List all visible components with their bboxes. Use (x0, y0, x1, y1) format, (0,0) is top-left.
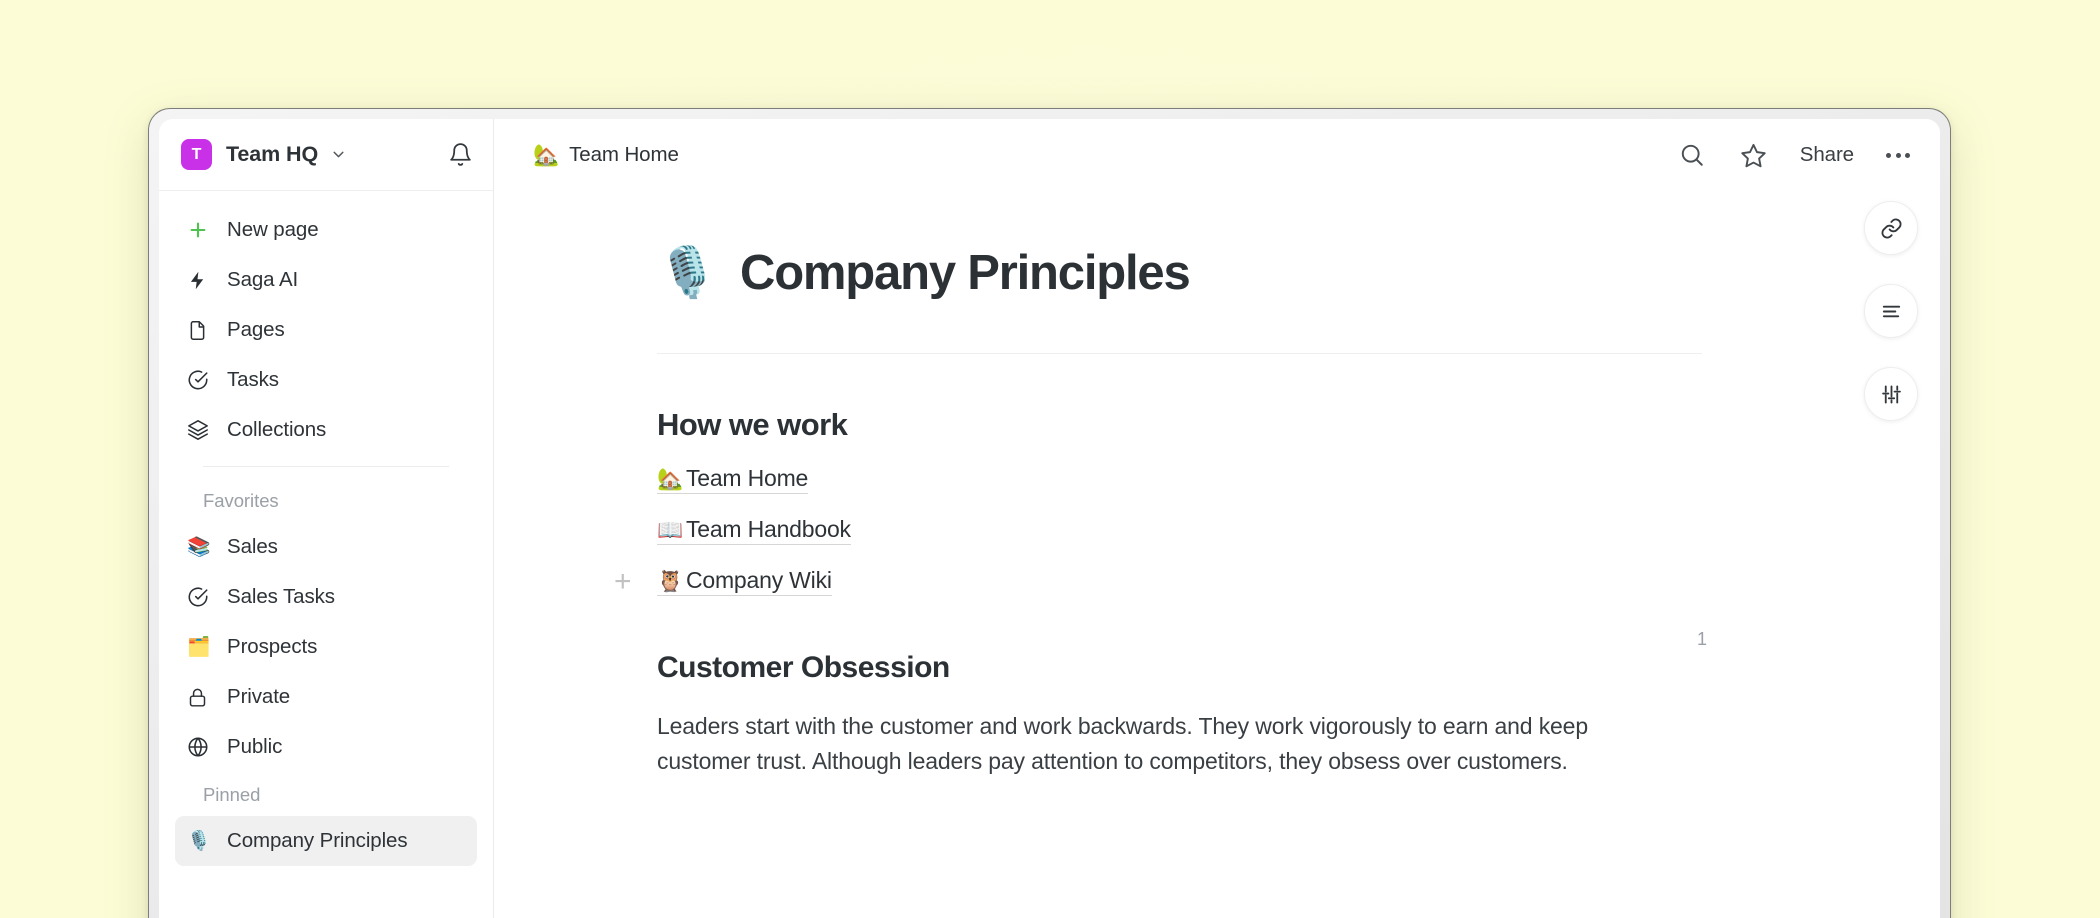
share-button[interactable]: Share (1798, 143, 1856, 167)
search-icon[interactable] (1674, 137, 1710, 173)
house-with-garden-emoji: 🏡 (533, 145, 559, 166)
page-link[interactable]: 🦉Company Wiki (657, 567, 832, 596)
app-window: T Team HQ New page (148, 108, 1951, 918)
sidebar-item-sales[interactable]: 📚 Sales (175, 522, 477, 572)
sidebar: T Team HQ New page (159, 119, 494, 918)
owl-emoji: 🦉 (657, 570, 683, 594)
sidebar-item-private[interactable]: Private (175, 672, 477, 722)
sidebar-item-label: Private (227, 685, 290, 709)
sidebar-item-prospects[interactable]: 🗂️ Prospects (175, 622, 477, 672)
paragraph-customer-obsession[interactable]: Leaders start with the customer and work… (657, 709, 1605, 778)
sidebar-item-company-principles[interactable]: 🎙️ Company Principles (175, 816, 477, 866)
layers-icon (187, 419, 213, 441)
sidebar-nav: New page Saga AI Pages (159, 191, 493, 866)
globe-icon (187, 736, 213, 758)
check-circle-icon (187, 586, 213, 608)
breadcrumb-label: Team Home (569, 143, 679, 167)
open-book-emoji: 📖 (657, 519, 683, 543)
page-link[interactable]: 📖Team Handbook (657, 516, 851, 545)
page-link-label: Team Handbook (686, 516, 851, 543)
section-heading-how-we-work[interactable]: How we work (657, 407, 1702, 443)
page-link-label: Company Wiki (686, 567, 832, 594)
page-title[interactable]: Company Principles (740, 245, 1189, 301)
subheading-customer-obsession[interactable]: Customer Obsession (657, 651, 1702, 685)
more-horizontal-icon[interactable] (1882, 137, 1914, 173)
app-window-content: T Team HQ New page (159, 119, 1940, 918)
studio-microphone-emoji: 🎙️ (187, 832, 213, 851)
check-circle-icon (187, 369, 213, 391)
page-title-row: 🎙️ Company Principles (657, 245, 1702, 301)
lock-icon (187, 687, 213, 708)
sidebar-item-public[interactable]: Public (175, 722, 477, 772)
house-with-garden-emoji: 🏡 (657, 468, 683, 492)
page-link[interactable]: 🏡Team Home (657, 465, 808, 494)
right-rail (1864, 201, 1918, 421)
breadcrumb[interactable]: 🏡 Team Home (518, 135, 694, 175)
plus-icon (187, 219, 213, 241)
workspace-header[interactable]: T Team HQ (159, 119, 493, 191)
main-content: 🏡 Team Home Share (494, 119, 1940, 918)
bell-icon[interactable] (448, 142, 473, 167)
block-link-team-home: 🏡Team Home (657, 465, 1702, 494)
sidebar-item-label: Tasks (227, 368, 279, 392)
sidebar-item-label: Sales Tasks (227, 585, 335, 609)
top-bar: 🏡 Team Home Share (494, 119, 1940, 191)
star-icon[interactable] (1736, 137, 1772, 173)
workspace-avatar: T (181, 139, 212, 170)
sidebar-item-label: Pages (227, 318, 285, 342)
sidebar-item-label: New page (227, 218, 319, 242)
link-icon[interactable] (1864, 201, 1918, 255)
block-link-company-wiki: + 🦉Company Wiki (657, 567, 1702, 596)
block-link-team-handbook: 📖Team Handbook (657, 516, 1702, 545)
lightning-bolt-icon (187, 270, 213, 291)
document-icon (187, 320, 213, 341)
sidebar-item-tasks[interactable]: Tasks (175, 355, 477, 405)
sidebar-item-label: Public (227, 735, 282, 759)
sidebar-item-label: Saga AI (227, 268, 298, 292)
sidebar-item-sales-tasks[interactable]: Sales Tasks (175, 572, 477, 622)
sidebar-divider (203, 466, 449, 467)
sidebar-item-label: Prospects (227, 635, 317, 659)
studio-microphone-emoji[interactable]: 🎙️ (657, 249, 718, 298)
document-body: 🎙️ Company Principles How we work 🏡Team … (657, 191, 1702, 778)
books-emoji: 📚 (187, 538, 213, 557)
document-scroll-area[interactable]: 🎙️ Company Principles How we work 🏡Team … (494, 191, 1940, 918)
side-counter: 1 (1697, 629, 1707, 650)
pinned-section-title: Pinned (175, 772, 477, 816)
sidebar-item-label: Sales (227, 535, 278, 559)
sidebar-item-label: Collections (227, 418, 326, 442)
workspace-name: Team HQ (226, 142, 318, 167)
text-align-icon[interactable] (1864, 284, 1918, 338)
sidebar-item-new-page[interactable]: New page (175, 205, 477, 255)
plus-icon[interactable]: + (614, 567, 632, 597)
title-divider (657, 353, 1702, 354)
sidebar-item-pages[interactable]: Pages (175, 305, 477, 355)
sidebar-item-label: Company Principles (227, 829, 408, 853)
page-link-label: Team Home (686, 465, 808, 492)
sliders-icon[interactable] (1864, 367, 1918, 421)
sidebar-item-saga-ai[interactable]: Saga AI (175, 255, 477, 305)
sidebar-item-collections[interactable]: Collections (175, 405, 477, 455)
chevron-down-icon[interactable] (330, 146, 347, 163)
card-index-dividers-emoji: 🗂️ (187, 638, 213, 657)
top-bar-actions: Share (1674, 137, 1914, 173)
favorites-section-title: Favorites (175, 478, 477, 522)
